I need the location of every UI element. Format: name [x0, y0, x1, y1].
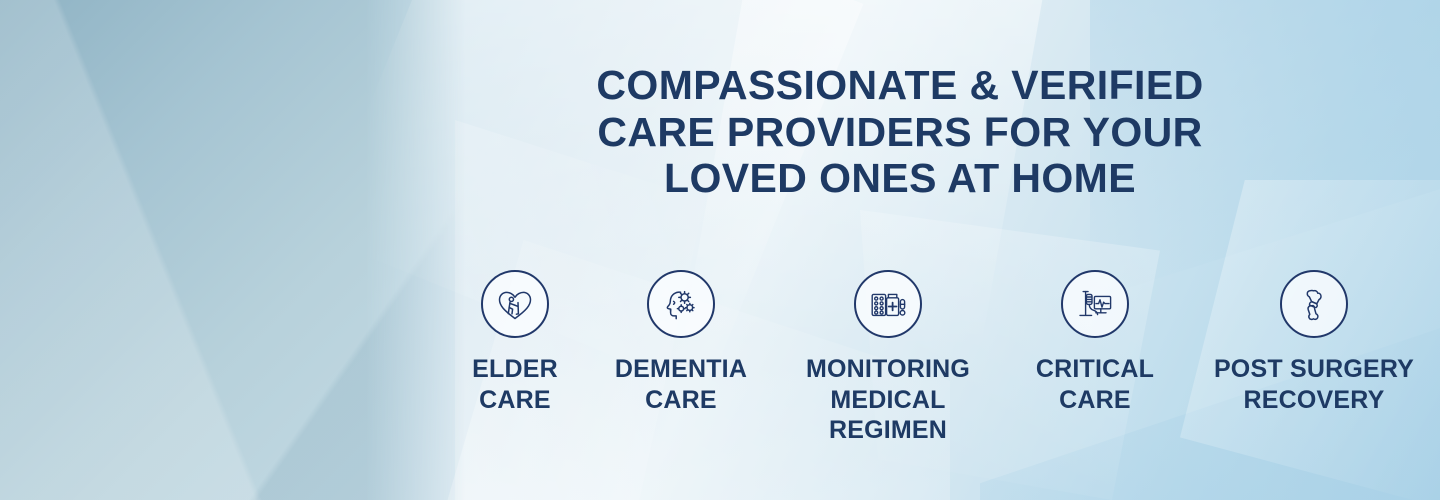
service-item-critical-care[interactable]: CRITICAL CARE [1015, 270, 1175, 415]
critical-care-icon-circle[interactable] [1061, 270, 1129, 338]
service-item-elder-care[interactable]: ELDER CARE [452, 270, 578, 415]
post-surgery-recovery-icon-circle[interactable] [1280, 270, 1348, 338]
page-title: COMPASSIONATE & VERIFIED CARE PROVIDERS … [470, 62, 1330, 202]
service-label: CRITICAL CARE [1036, 354, 1154, 415]
bone-joint-icon [1294, 284, 1334, 324]
medication-icon [868, 284, 908, 324]
service-item-post-surgery-recovery[interactable]: POST SURGERY RECOVERY [1198, 270, 1430, 415]
elder-care-icon-circle[interactable] [481, 270, 549, 338]
dementia-care-icon-circle[interactable] [647, 270, 715, 338]
photo-backdrop [0, 0, 470, 500]
elder-heart-icon [495, 284, 535, 324]
service-label: POST SURGERY RECOVERY [1214, 354, 1414, 415]
service-label: ELDER CARE [472, 354, 558, 415]
services-list: ELDER CARE DEMENTIA CARE [452, 270, 1430, 446]
service-item-monitoring-medical-regimen[interactable]: MONITORING MEDICAL REGIMEN [784, 270, 992, 446]
home-care-banner: COMPASSIONATE & VERIFIED CARE PROVIDERS … [0, 0, 1440, 500]
monitoring-medical-regimen-icon-circle[interactable] [854, 270, 922, 338]
service-label: MONITORING MEDICAL REGIMEN [806, 354, 970, 446]
iv-monitor-icon [1075, 284, 1115, 324]
service-item-dementia-care[interactable]: DEMENTIA CARE [601, 270, 761, 415]
headline-line-3: LOVED ONES AT HOME [470, 155, 1330, 202]
service-label: DEMENTIA CARE [615, 354, 747, 415]
head-gears-icon [661, 284, 701, 324]
headline-line-2: CARE PROVIDERS FOR YOUR [470, 109, 1330, 156]
caregiver-patient-photo [0, 0, 470, 500]
headline-line-1: COMPASSIONATE & VERIFIED [470, 62, 1330, 109]
